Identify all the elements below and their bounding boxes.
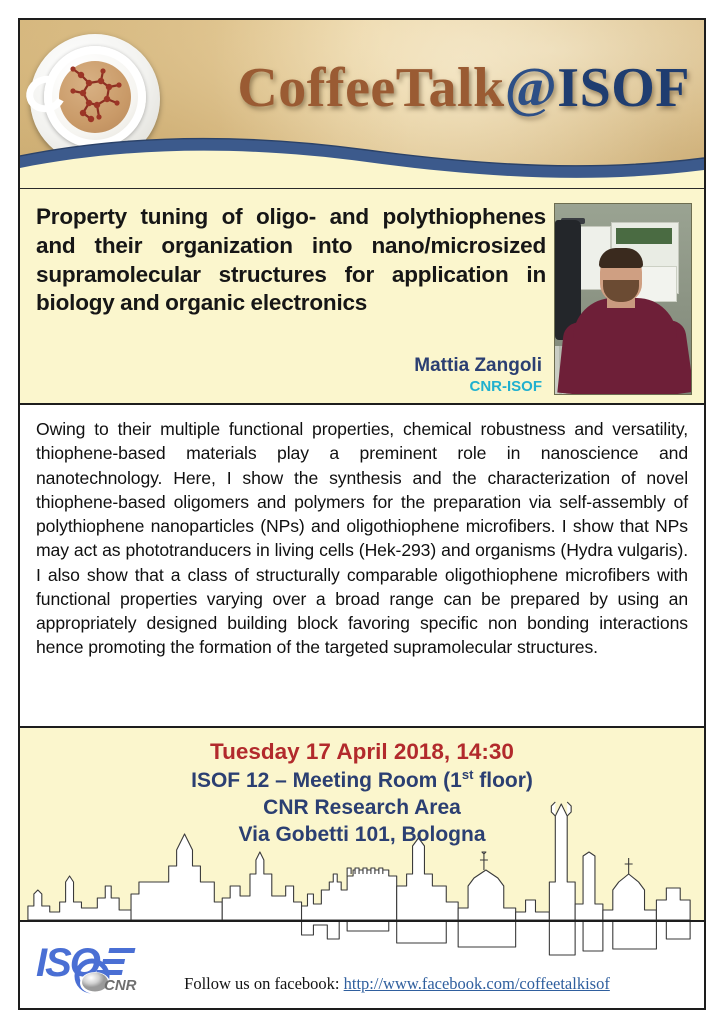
event-venue: CNR Research Area — [20, 794, 704, 821]
event-room-prefix: ISOF 12 – Meeting Room (1 — [191, 769, 462, 792]
event-room-superscript: st — [462, 767, 474, 782]
footer-block: ISO CNR Follow us on — [20, 922, 704, 1008]
brand-at-symbol: @ — [505, 57, 558, 119]
speaker-photo — [554, 203, 692, 395]
event-room: ISOF 12 – Meeting Room (1st floor) — [20, 767, 704, 794]
speaker-affiliation: CNR-ISOF — [36, 378, 542, 397]
event-address: Via Gobetti 101, Bologna — [20, 821, 704, 848]
facebook-link[interactable]: http://www.facebook.com/coffeetalkisof — [344, 974, 610, 993]
facebook-follow: Follow us on facebook: http://www.facebo… — [20, 974, 704, 994]
event-details-block: Tuesday 17 April 2018, 14:30 ISOF 12 – M… — [20, 728, 704, 922]
brand-isof: ISOF — [557, 57, 690, 119]
abstract-block: Owing to their multiple functional prope… — [20, 405, 704, 728]
event-room-suffix: floor) — [473, 769, 532, 792]
poster-root: CoffeeTalk@ISOF Property tuning of oligo… — [0, 0, 724, 1024]
poster-frame: CoffeeTalk@ISOF Property tuning of oligo… — [18, 18, 706, 1010]
header-banner: CoffeeTalk@ISOF — [20, 20, 704, 189]
facebook-label: Follow us on facebook: — [184, 974, 343, 993]
blue-wave-divider — [20, 128, 704, 188]
event-text: Tuesday 17 April 2018, 14:30 ISOF 12 – M… — [20, 728, 704, 849]
molecule-latte-art-icon — [59, 61, 131, 133]
brand-title: CoffeeTalk@ISOF — [237, 56, 690, 120]
speaker-block: Mattia Zangoli CNR-ISOF — [36, 356, 546, 397]
photo-torso-sweater — [573, 298, 677, 394]
talk-title-block: Property tuning of oligo- and polythioph… — [20, 189, 704, 405]
talk-title: Property tuning of oligo- and polythioph… — [36, 203, 546, 318]
abstract-text: Owing to their multiple functional prope… — [36, 417, 688, 660]
brand-coffeetalk: CoffeeTalk — [237, 57, 504, 119]
event-date: Tuesday 17 April 2018, 14:30 — [20, 738, 704, 767]
photo-hair — [599, 248, 643, 268]
speaker-name: Mattia Zangoli — [36, 356, 542, 377]
title-text-column: Property tuning of oligo- and polythioph… — [36, 203, 546, 397]
